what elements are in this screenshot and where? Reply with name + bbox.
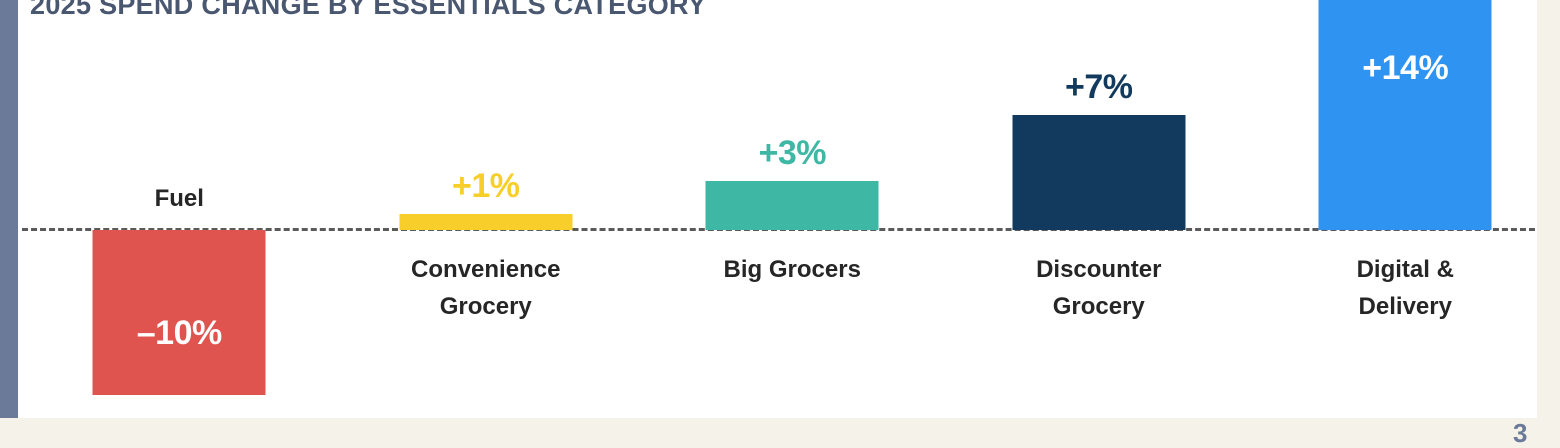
chart-plot-area: –10%Fuel+1%Convenience Grocery+3%Big Gro… xyxy=(18,0,1537,418)
bar-group: +1%Convenience Grocery xyxy=(333,0,640,418)
bar-value-label: –10% xyxy=(26,313,333,353)
bar-group: –10%Fuel xyxy=(26,0,333,418)
bar-value-label: +14% xyxy=(1252,48,1537,88)
slide-card: 2025 SPEND CHANGE BY ESSENTIALS CATEGORY… xyxy=(0,0,1537,418)
bar-value-label: +3% xyxy=(639,133,946,173)
bar-value-label: +1% xyxy=(333,166,640,206)
page-number: 3 xyxy=(1513,420,1527,446)
bar-value-label: +7% xyxy=(946,67,1253,107)
bar-group: +14%Digital & Delivery xyxy=(1252,0,1537,418)
category-label: Fuel xyxy=(26,180,333,217)
category-label: Big Grocers xyxy=(639,251,946,288)
bar-group: +7%Discounter Grocery xyxy=(946,0,1253,418)
category-label: Convenience Grocery xyxy=(333,251,640,325)
left-accent-bar xyxy=(0,0,18,418)
bar[interactable] xyxy=(1319,0,1492,230)
bar[interactable] xyxy=(706,181,879,230)
category-label: Digital & Delivery xyxy=(1252,251,1537,325)
bar[interactable] xyxy=(1012,115,1185,230)
bar-group: +3%Big Grocers xyxy=(639,0,946,418)
bar[interactable] xyxy=(399,214,572,230)
category-label: Discounter Grocery xyxy=(946,251,1253,325)
